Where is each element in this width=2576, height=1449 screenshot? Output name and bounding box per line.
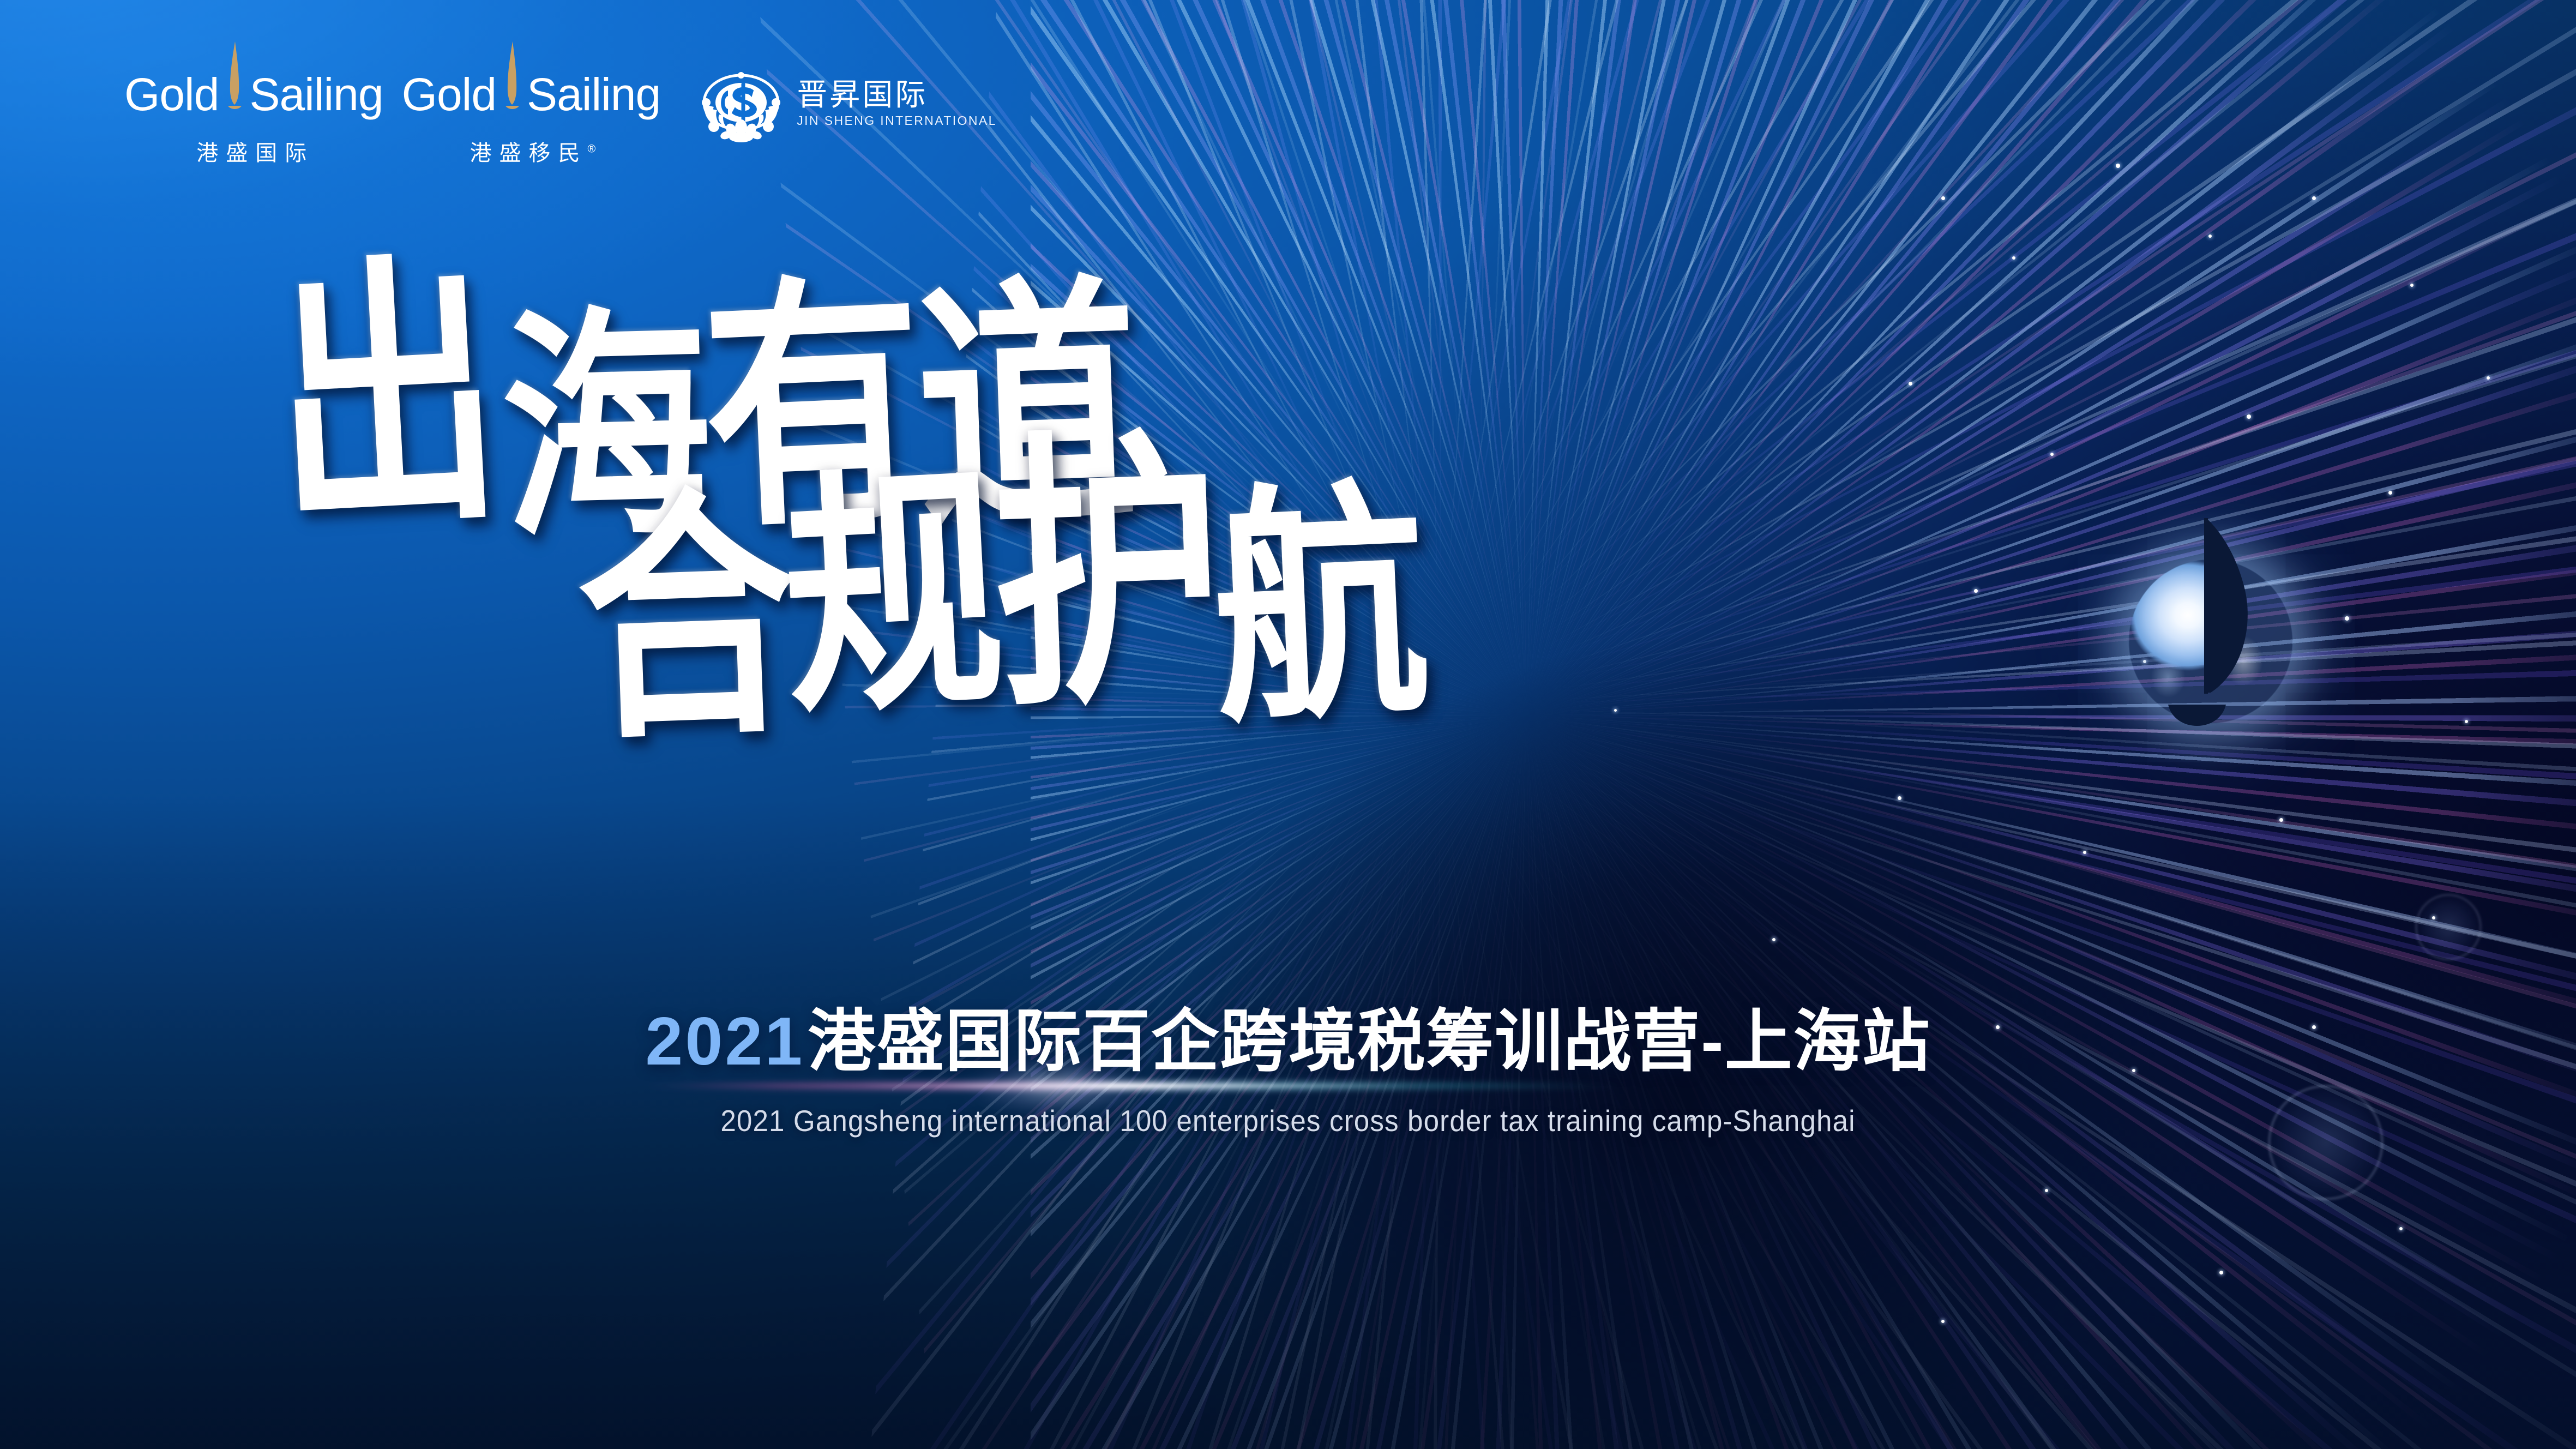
gold-sail-icon xyxy=(501,41,523,110)
wordmark-sailing: Sailing xyxy=(527,71,660,117)
logo-chinese-text: 港盛移民 xyxy=(470,141,588,165)
logo-chinese-name: 港盛移民® xyxy=(402,135,661,167)
gold-sail-icon xyxy=(223,41,246,110)
wordmark-gold: Gold xyxy=(124,71,219,117)
gold-sailing-wordmark: Gold Sailing xyxy=(124,60,383,129)
s-monogram-laurel-emblem xyxy=(695,62,787,144)
logo-jin-sheng-international[interactable]: 晋昇国际 JIN SHENG INTERNATIONAL xyxy=(695,60,997,144)
subtitle-english: 2021 Gangsheng international 100 enterpr… xyxy=(90,1104,2485,1138)
bokeh-ring-small xyxy=(2416,894,2481,960)
wordmark-sailing: Sailing xyxy=(249,71,383,117)
bokeh-ring-large xyxy=(2268,1085,2383,1200)
logo-gold-sailing-international[interactable]: Gold Sailing 港盛国际 xyxy=(124,60,402,167)
jin-sheng-chinese-name: 晋昇国际 xyxy=(797,80,997,110)
subtitle-year: 2021 xyxy=(645,1004,804,1079)
gold-sailing-wordmark: Gold Sailing xyxy=(402,60,661,129)
jin-sheng-english-name: JIN SHENG INTERNATIONAL xyxy=(797,115,997,127)
subtitle-chinese: 2021港盛国际百企跨境税筹训战营-上海站 xyxy=(0,1006,2576,1077)
wordmark-gold: Gold xyxy=(402,71,496,117)
subtitle-chinese-text: 港盛国际百企跨境税筹训战营-上海站 xyxy=(808,1004,1930,1079)
logo-chinese-name: 港盛国际 xyxy=(124,135,383,167)
sailboat-icon xyxy=(2098,513,2360,796)
sailboat-moon-graphic xyxy=(2098,513,2360,796)
banner-canvas: Gold Sailing 港盛国际 Gold xyxy=(0,0,2576,1449)
jin-sheng-text-block: 晋昇国际 JIN SHENG INTERNATIONAL xyxy=(797,80,997,127)
logo-bar: Gold Sailing 港盛国际 Gold xyxy=(124,60,997,167)
logo-gold-sailing-immigration[interactable]: Gold Sailing 港盛移民® xyxy=(402,60,679,167)
registered-trademark-icon: ® xyxy=(588,143,596,155)
